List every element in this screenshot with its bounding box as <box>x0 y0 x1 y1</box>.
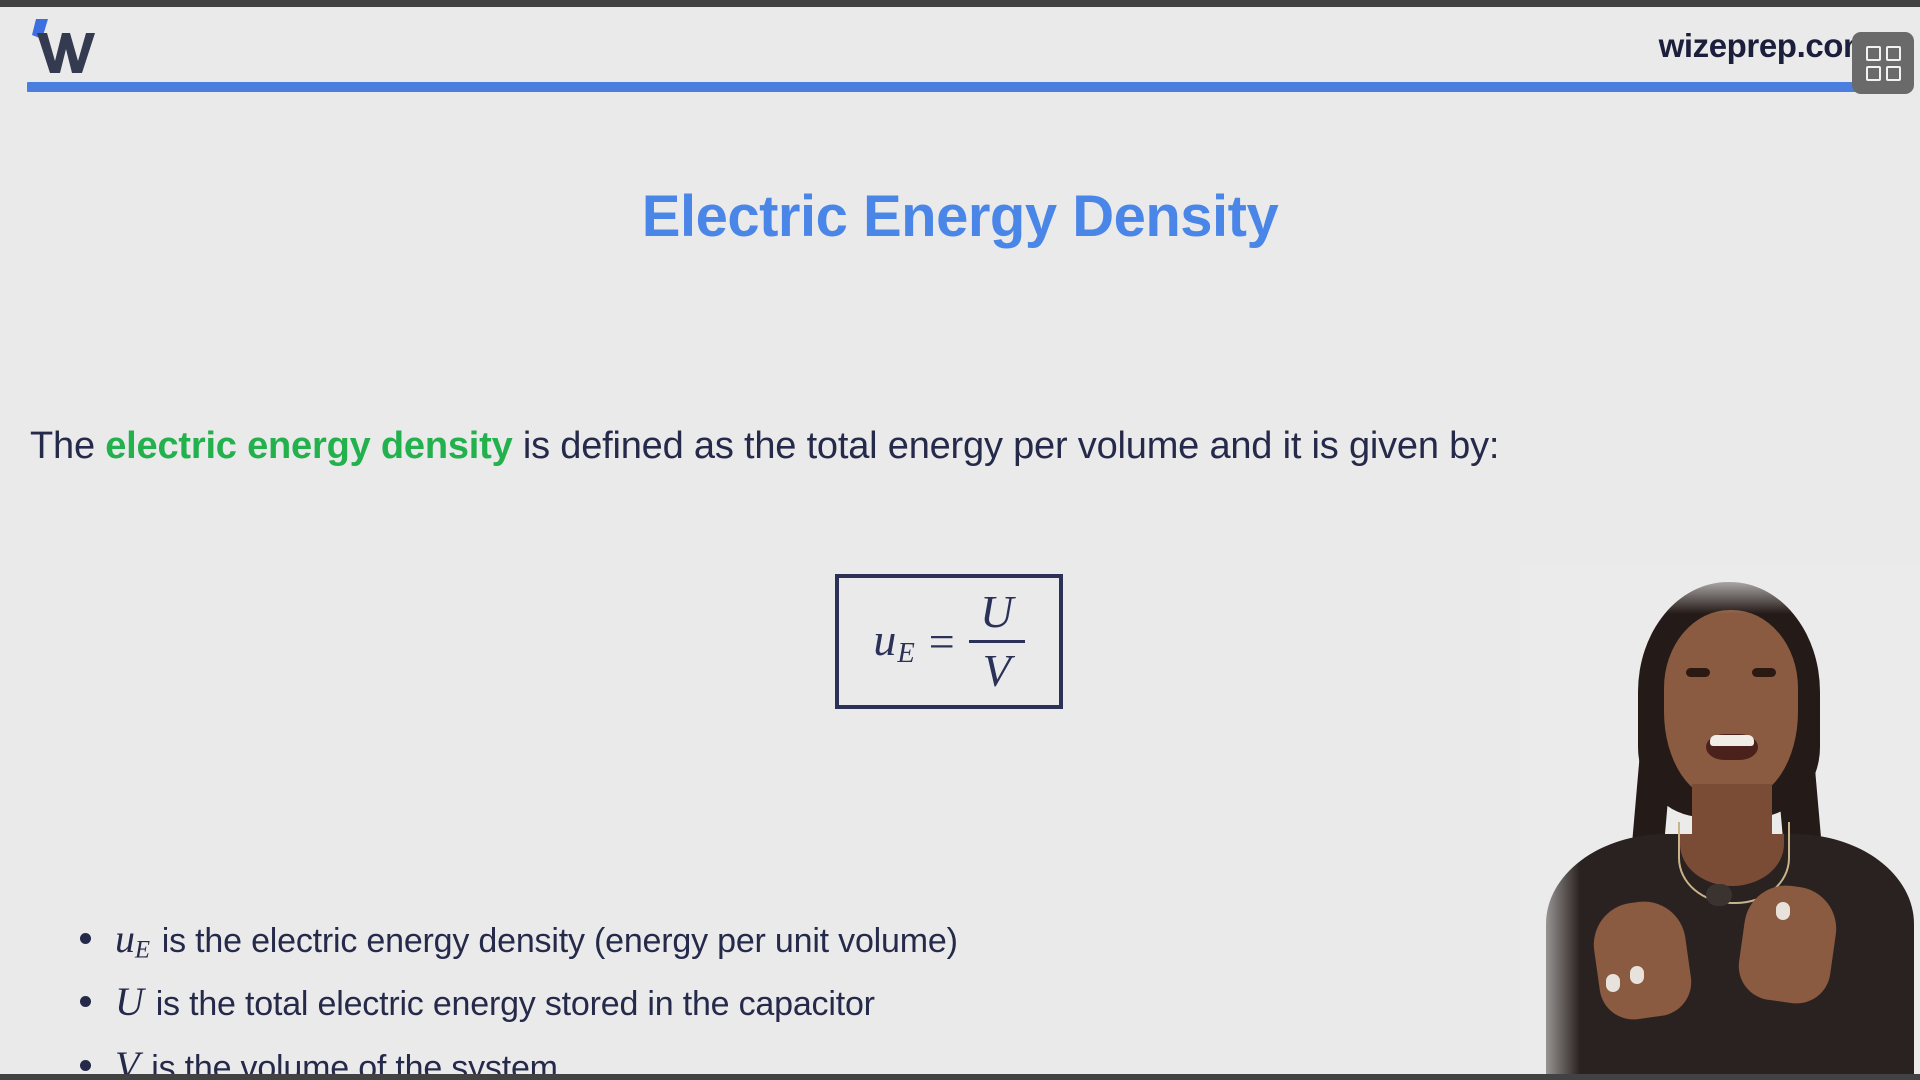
list-item: uE is the electric energy density (energ… <box>80 915 1480 964</box>
intro-paragraph: The electric energy density is defined a… <box>30 425 1730 468</box>
presenter-eye-left <box>1686 668 1710 677</box>
bullet-dot-icon <box>80 1060 91 1071</box>
formula-numerator: U <box>972 587 1021 637</box>
bullet-dot-icon <box>80 933 91 944</box>
presenter-lapel-microphone <box>1706 884 1732 906</box>
bullet-symbol: uE <box>115 915 150 964</box>
bullet-symbol-subscript: E <box>135 936 150 963</box>
intro-before: The <box>30 425 105 467</box>
presenter-eye-right <box>1752 668 1776 677</box>
slide-title: Electric Energy Density <box>0 183 1920 250</box>
presenter-video <box>1520 566 1920 1074</box>
presenter-fingernail <box>1606 974 1620 992</box>
presenter-face <box>1664 610 1798 800</box>
slide-header: wizeprep.com <box>0 7 1920 95</box>
letterbox-top <box>0 0 1920 7</box>
grid-icon <box>1866 46 1901 81</box>
presenter-teeth <box>1710 735 1754 746</box>
list-item: U is the total electric energy stored in… <box>80 978 1480 1027</box>
formula-fraction: U V <box>969 587 1025 696</box>
bullet-text: is the electric energy density (energy p… <box>162 922 958 961</box>
header-divider-rule <box>27 82 1900 92</box>
bullet-text: is the total electric energy stored in t… <box>156 985 875 1024</box>
formula-fraction-bar <box>969 640 1025 643</box>
formula-lhs-symbol: u <box>873 614 896 665</box>
intro-after: is defined as the total energy per volum… <box>513 425 1500 467</box>
bullet-dot-icon <box>80 996 91 1007</box>
bullet-list: uE is the electric energy density (energ… <box>80 915 1480 1080</box>
formula-box: uE = U V <box>835 574 1063 709</box>
grid-view-button[interactable] <box>1852 32 1914 94</box>
formula-operator: = <box>929 615 955 668</box>
formula-lhs: uE <box>873 613 914 669</box>
bullet-symbol-base: U <box>115 979 144 1024</box>
formula-denominator: V <box>975 646 1019 696</box>
letterbox-bottom <box>0 1074 1920 1080</box>
video-player-screen: wizeprep.com Electric Energy Density The… <box>0 0 1920 1080</box>
presenter-fingernail <box>1630 966 1644 984</box>
bullet-symbol: U <box>115 978 144 1027</box>
bullet-symbol-base: u <box>115 916 135 961</box>
presenter-fingernail <box>1776 902 1790 920</box>
intro-highlight: electric energy density <box>105 425 512 467</box>
formula-lhs-subscript: E <box>897 638 914 669</box>
brand-domain-text: wizeprep.com <box>1659 27 1872 65</box>
wizeprep-logo-icon <box>26 13 96 75</box>
